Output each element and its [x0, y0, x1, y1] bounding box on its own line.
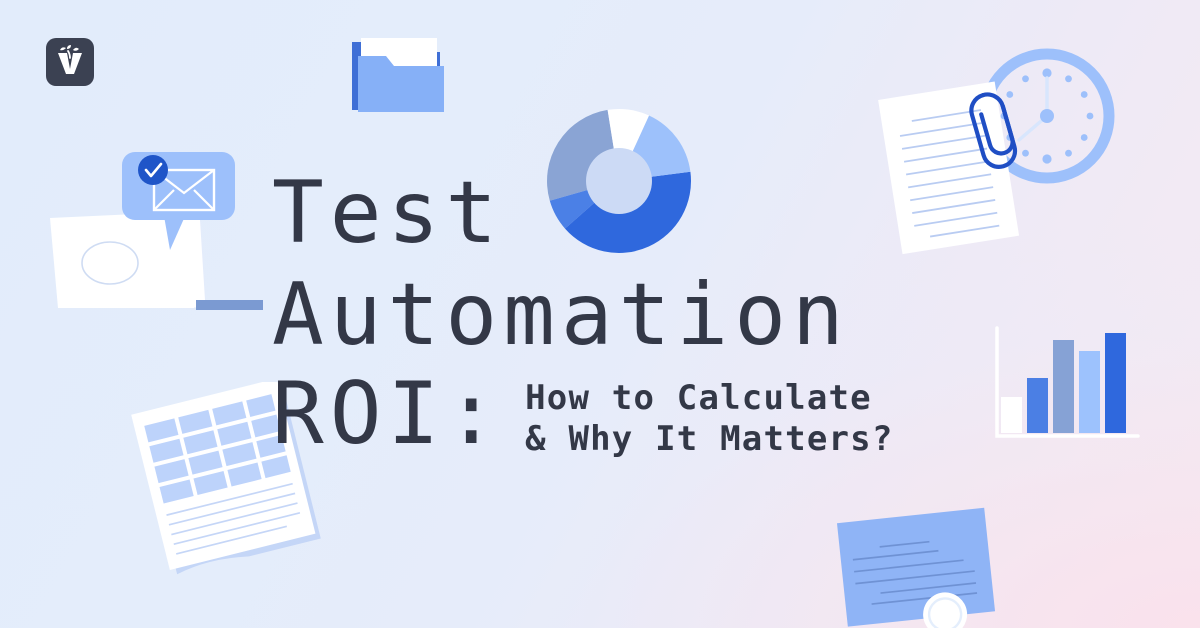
brand-logo[interactable]: [46, 38, 94, 86]
subtitle-line-2: & Why It Matters?: [525, 419, 893, 460]
title-line-1: Test: [272, 162, 894, 264]
laptop-with-mail-notification: [48, 140, 263, 320]
certificate-document: [828, 505, 1008, 628]
subtitle-line-1: How to Calculate: [525, 378, 893, 419]
document-with-paperclip: [872, 75, 1037, 265]
bar-chart: [988, 322, 1142, 446]
subtitle: How to Calculate & Why It Matters?: [525, 378, 893, 460]
page-title: Test Automation ROI: How to Calculate & …: [272, 162, 894, 462]
blog-header-banner: Test Automation ROI: How to Calculate & …: [0, 0, 1200, 628]
title-line-3: ROI:: [272, 366, 503, 462]
title-line-2: Automation: [272, 264, 894, 366]
folder-icon: [344, 28, 454, 116]
title-line-3-row: ROI: How to Calculate & Why It Matters?: [272, 366, 894, 462]
